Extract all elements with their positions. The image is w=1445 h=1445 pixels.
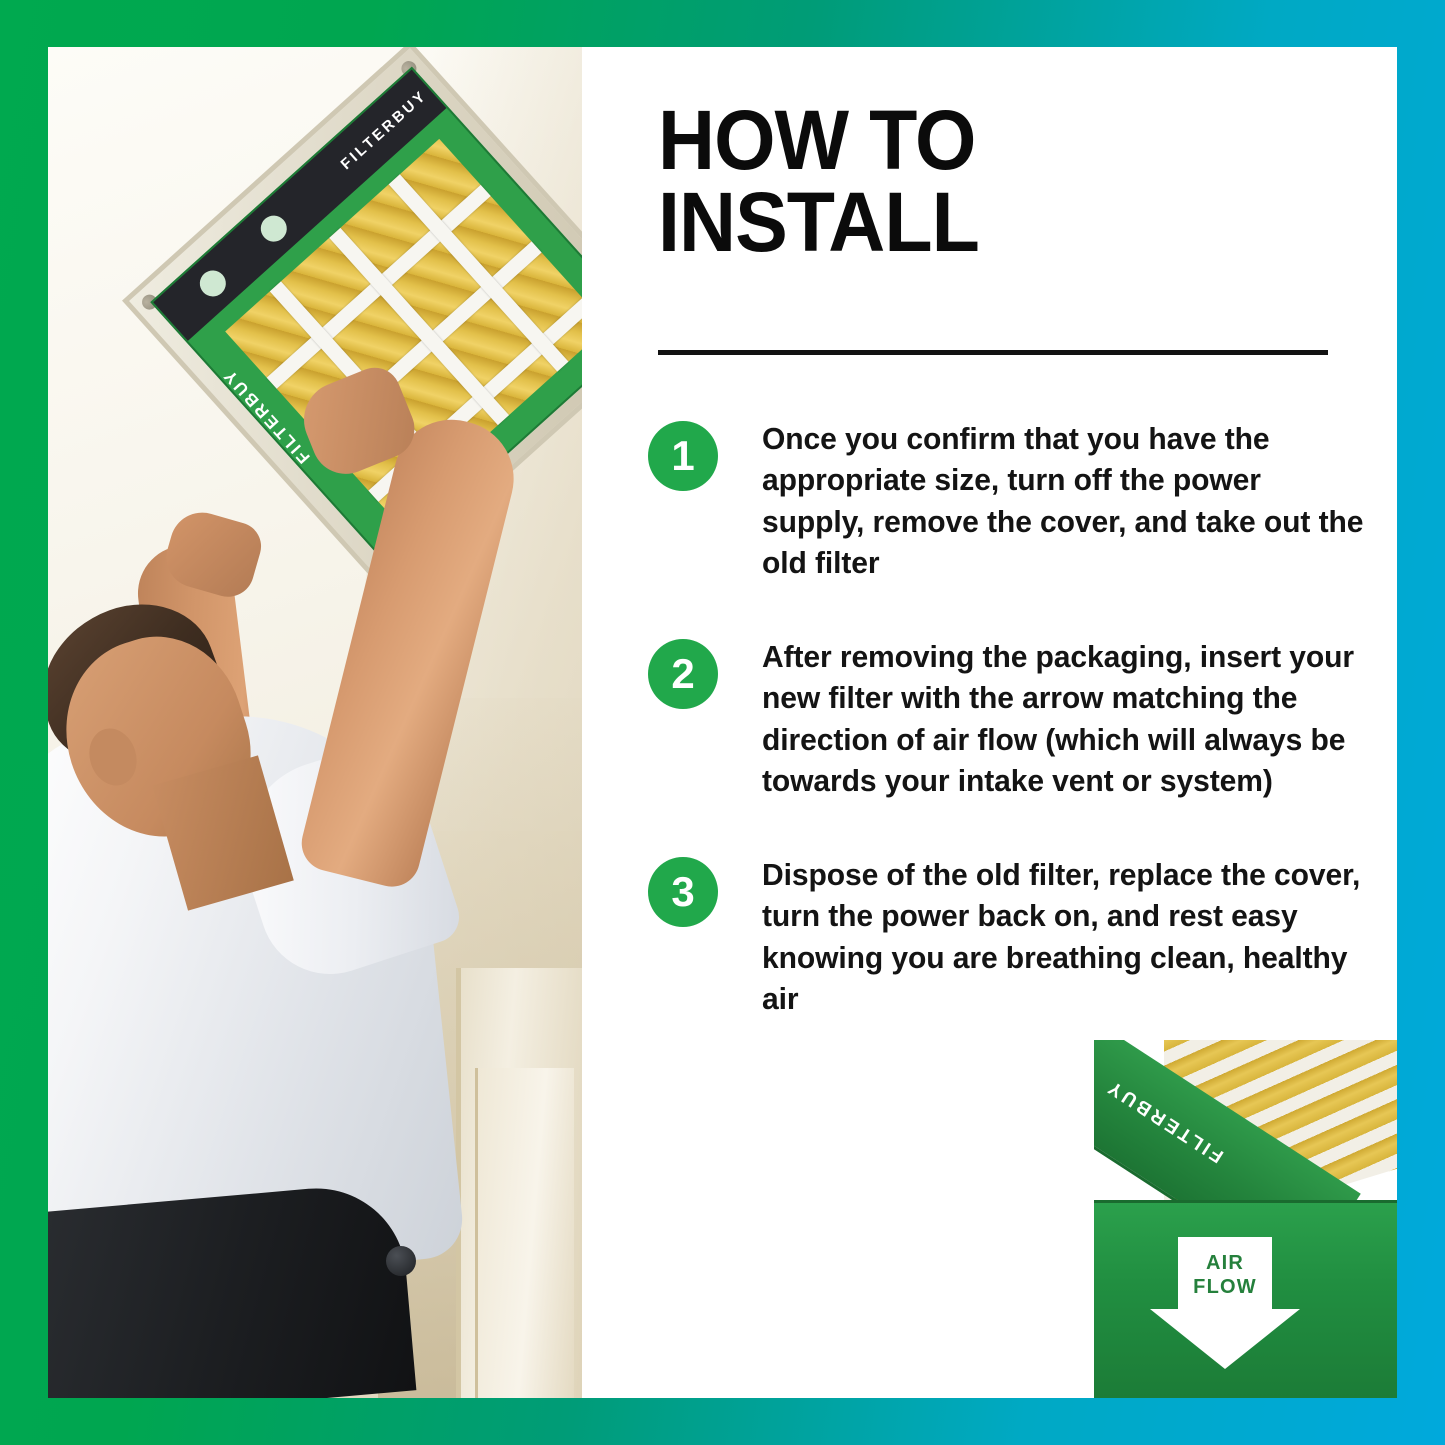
step-item-3: 3 Dispose of the old filter, replace the… — [648, 855, 1378, 1021]
person-installing-filter — [48, 498, 582, 1398]
step-text-2: After removing the packaging, insert you… — [762, 637, 1369, 803]
installation-photo: FILTERBUY FILTERBUY — [48, 47, 582, 1398]
poster-canvas: FILTERBUY FILTERBUY — [48, 47, 1397, 1398]
air-flow-label-line-1: AIR — [1150, 1251, 1300, 1275]
steps-list: 1 Once you confirm that you have the app… — [648, 419, 1378, 1073]
title-divider — [658, 350, 1328, 355]
step-item-1: 1 Once you confirm that you have the app… — [648, 419, 1378, 585]
step-item-2: 2 After removing the packaging, insert y… — [648, 637, 1378, 803]
step-text-1: Once you confirm that you have the appro… — [762, 419, 1369, 585]
page-title-line-2: INSTALL — [658, 181, 1307, 263]
step-number-badge-1: 1 — [648, 421, 718, 491]
air-flow-indicator: AIR FLOW — [1150, 1237, 1300, 1369]
shorts — [48, 1181, 416, 1398]
filter-band-mark — [194, 265, 231, 302]
step-number-badge-3: 3 — [648, 857, 718, 927]
page-title: HOW TO INSTALL — [658, 99, 1307, 264]
filter-band-mark — [255, 210, 292, 247]
step-text-3: Dispose of the old filter, replace the c… — [762, 855, 1369, 1021]
step-number-badge-2: 2 — [648, 639, 718, 709]
instructions-panel: HOW TO INSTALL 1 Once you confirm that y… — [582, 47, 1397, 1398]
product-filter-inset: FILTERBUY AIR FLOW — [1094, 1040, 1397, 1398]
page-title-line-1: HOW TO — [658, 99, 1307, 181]
air-flow-label: AIR FLOW — [1150, 1251, 1300, 1300]
poster-frame: FILTERBUY FILTERBUY — [0, 0, 1445, 1445]
door-knob — [386, 1246, 416, 1276]
air-flow-label-line-2: FLOW — [1150, 1275, 1300, 1299]
filter-front-face: AIR FLOW — [1094, 1200, 1397, 1398]
